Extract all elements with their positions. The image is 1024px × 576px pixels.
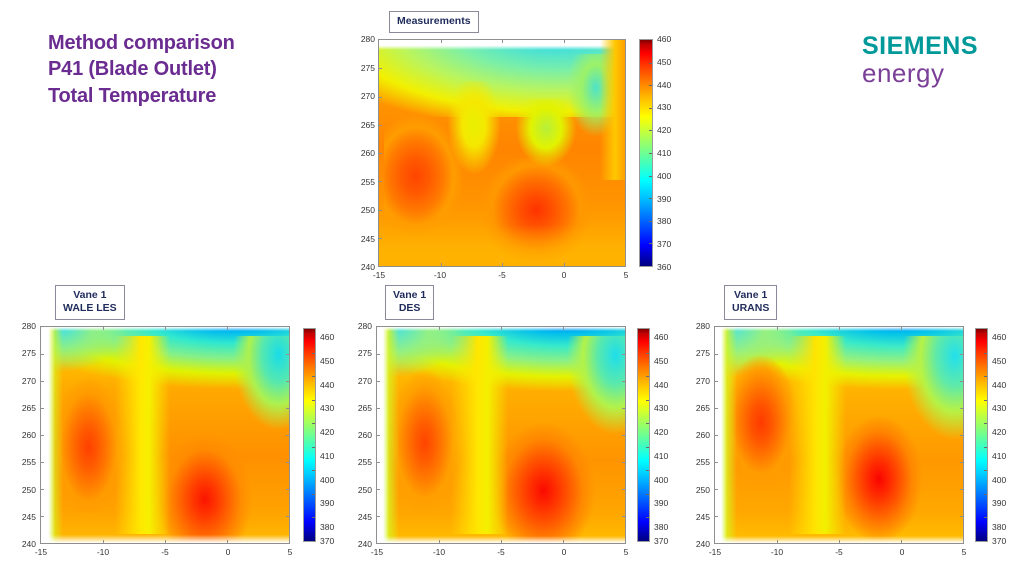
colorbar-tick-label: 450 xyxy=(992,356,1006,366)
y-tick-label: 250 xyxy=(692,485,710,495)
y-tick-label: 280 xyxy=(692,321,710,331)
contour-field-urans xyxy=(715,327,963,543)
y-tick-label: 255 xyxy=(692,457,710,467)
y-tick-label: 260 xyxy=(692,430,710,440)
colorbar-tick-label: 410 xyxy=(992,451,1006,461)
colorbar-tick-label: 440 xyxy=(992,380,1006,390)
colorbar-urans[interactable] xyxy=(975,328,988,542)
y-tick-label: 270 xyxy=(692,376,710,386)
x-tick-label: -15 xyxy=(709,547,721,557)
x-tick-label: -10 xyxy=(771,547,783,557)
panel-label-measurements: Measurements xyxy=(389,11,479,33)
x-tick-label: -5 xyxy=(835,547,843,557)
colorbar-tick-label: 420 xyxy=(992,427,1006,437)
y-tick-label: 265 xyxy=(692,403,710,413)
y-tick-label: 240 xyxy=(692,539,710,549)
colorbar-tick-label: 370 xyxy=(992,536,1006,546)
colorbar-tick-label: 430 xyxy=(992,403,1006,413)
x-tick-label: 5 xyxy=(962,547,967,557)
x-tick-label: 0 xyxy=(900,547,905,557)
slide-canvas: Method comparison P41 (Blade Outlet) Tot… xyxy=(0,0,1024,576)
colorbar-tick-label: 380 xyxy=(992,522,1006,532)
panel-label-urans: Vane 1 URANS xyxy=(724,285,777,320)
panel-label-des: Vane 1 DES xyxy=(385,285,434,320)
panel-label-wale-les: Vane 1 WALE LES xyxy=(55,285,125,320)
colorbar-tick-label: 460 xyxy=(992,332,1006,342)
panel-urans: Vane 1 URANS xyxy=(0,0,1024,576)
contour-axes-urans[interactable] xyxy=(714,326,964,544)
colorbar-tick-label: 400 xyxy=(992,475,1006,485)
colorbar-tick-label: 390 xyxy=(992,498,1006,508)
y-tick-label: 245 xyxy=(692,512,710,522)
y-tick-label: 275 xyxy=(692,348,710,358)
